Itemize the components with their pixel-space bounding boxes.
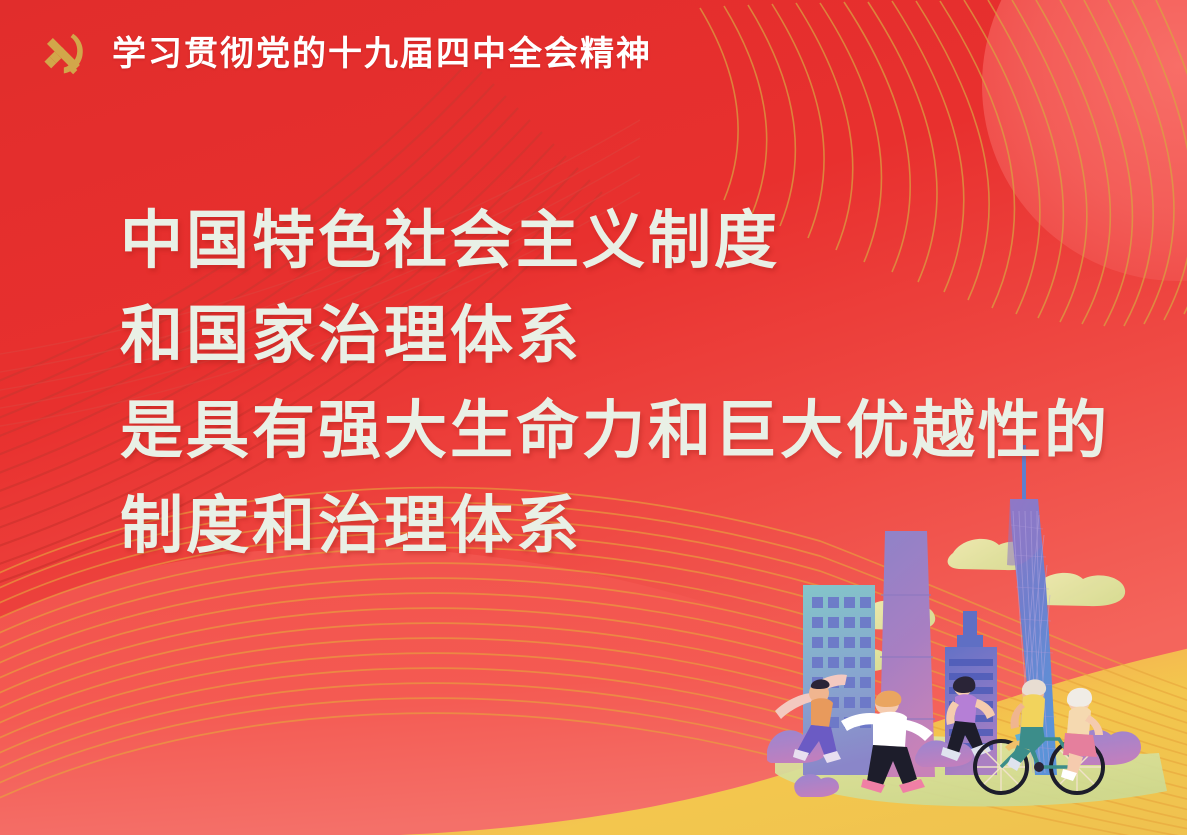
headline-line-3: 是具有强大生命力和巨大优越性的 bbox=[120, 400, 1110, 463]
headline-line-2: 和国家治理体系 bbox=[120, 305, 1110, 368]
headline-line-4: 制度和治理体系 bbox=[120, 495, 1110, 558]
hammer-and-sickle-icon bbox=[36, 27, 90, 81]
poster-canvas: 学习贯彻党的十九届四中全会精神 中国特色社会主义制度 和国家治理体系 是具有强大… bbox=[0, 0, 1187, 835]
headline-line-1: 中国特色社会主义制度 bbox=[120, 210, 1110, 273]
headline-block: 中国特色社会主义制度 和国家治理体系 是具有强大生命力和巨大优越性的 制度和治理… bbox=[120, 210, 1110, 558]
header-title: 学习贯彻党的十九届四中全会精神 bbox=[112, 37, 652, 71]
poster-header: 学习贯彻党的十九届四中全会精神 bbox=[0, 0, 1187, 108]
